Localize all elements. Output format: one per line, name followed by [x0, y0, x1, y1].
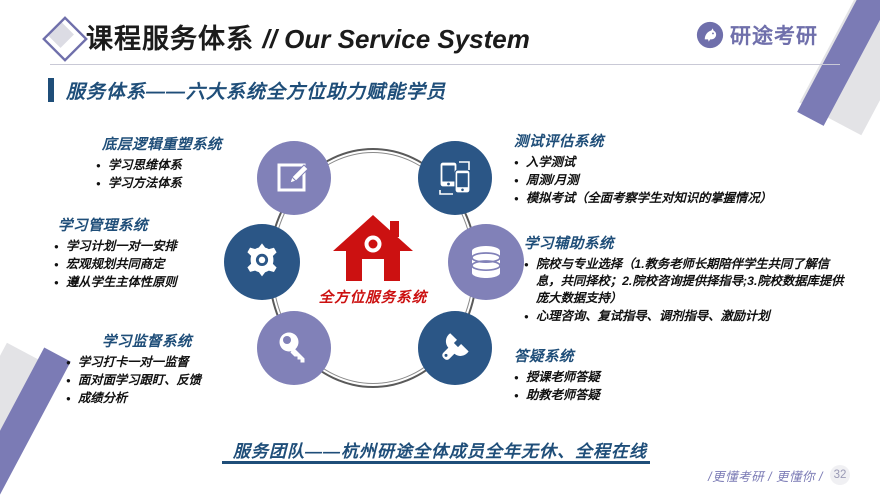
key-icon	[275, 329, 313, 367]
page-title-en: // Our Service System	[263, 24, 530, 54]
list-item: 模拟考试（全面考察学生对知识的掌握情况）	[514, 190, 844, 207]
edit-pencil-square-icon	[275, 159, 313, 197]
block-test-system: 测试评估系统 入学测试 周测/月测 模拟考试（全面考察学生对知识的掌握情况）	[514, 130, 844, 208]
block-test-list: 入学测试 周测/月测 模拟考试（全面考察学生对知识的掌握情况）	[514, 154, 844, 207]
diagram-node-edit[interactable]	[257, 141, 331, 215]
block-qa-title: 答疑系统	[514, 345, 764, 366]
list-item: 授课老师答疑	[514, 369, 764, 386]
service-system-diagram: 全方位服务系统	[222, 128, 522, 413]
list-item: 入学测试	[514, 154, 844, 171]
database-icon	[466, 242, 506, 282]
horse-head-circle-icon	[696, 21, 724, 49]
bottom-divider	[222, 461, 650, 464]
diagram-node-database[interactable]	[448, 224, 524, 300]
page-title: 课程服务体系 // Our Service System	[86, 19, 530, 59]
diagram-node-gear[interactable]	[224, 224, 300, 300]
block-assist-system: 学习辅助系统 院校与专业选择（1.教务老师长期陪伴学生共同了解信息，共同择校；2…	[524, 232, 844, 326]
slide-canvas: 课程服务体系 // Our Service System 研途考研 服务体系——…	[0, 0, 880, 495]
block-qa-list: 授课老师答疑 助教老师答疑	[514, 369, 764, 404]
block-assist-list: 院校与专业选择（1.教务老师长期陪伴学生共同了解信息，共同择校；2.院校咨询提供…	[524, 256, 844, 325]
diamond-outline-icon	[42, 16, 88, 62]
house-icon	[330, 213, 416, 285]
list-item: 心理咨询、复试指导、调剂指导、激励计划	[524, 308, 844, 325]
list-item: 周测/月测	[514, 172, 844, 189]
brand-logo-group: 研途考研	[696, 20, 818, 50]
brand-name: 研途考研	[730, 20, 818, 50]
page-number: 32	[830, 465, 850, 485]
wrench-icon	[436, 329, 474, 367]
gear-icon	[241, 241, 283, 283]
block-test-title: 测试评估系统	[514, 130, 844, 151]
footer-slogan: /更懂考研 / 更懂你 /	[708, 466, 823, 485]
mobile-devices-icon	[435, 158, 475, 198]
bottom-title: 服务团队——杭州研途全体成员全年无休、全程在线	[0, 437, 880, 462]
list-item: 院校与专业选择（1.教务老师长期陪伴学生共同了解信息，共同择校；2.院校咨询提供…	[524, 256, 844, 307]
diagram-center: 全方位服务系统	[310, 213, 436, 323]
slide-header: 课程服务体系 // Our Service System 研途考研	[0, 0, 880, 72]
section-title: 服务体系——六大系统全方位助力赋能学员	[66, 77, 446, 104]
block-assist-title: 学习辅助系统	[524, 232, 844, 253]
slide-footer: /更懂考研 / 更懂你 / 32	[708, 465, 850, 485]
section-accent-bar	[48, 78, 54, 102]
block-qa-system: 答疑系统 授课老师答疑 助教老师答疑	[514, 345, 764, 405]
diagram-node-mobile[interactable]	[418, 141, 492, 215]
diagram-center-label: 全方位服务系统	[319, 286, 428, 307]
header-divider	[50, 64, 840, 65]
list-item: 助教老师答疑	[514, 387, 764, 404]
page-title-cn: 课程服务体系	[86, 24, 263, 54]
